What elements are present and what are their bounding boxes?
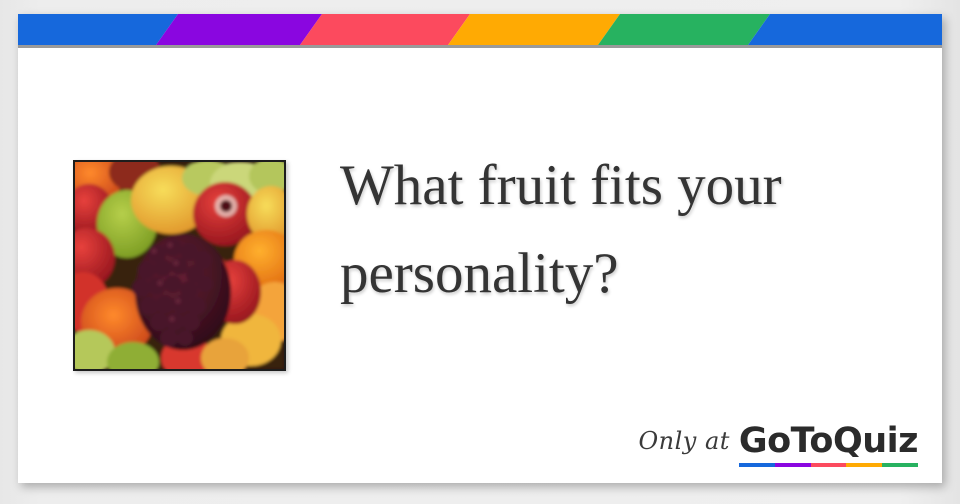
logo-bar-green [882, 463, 918, 467]
logo-tagline: Only at [638, 427, 729, 467]
screenshot-root: What fruit fits your personality? Only a… [0, 0, 960, 504]
ribbon-segment-blue [18, 14, 178, 45]
quiz-card: What fruit fits your personality? Only a… [18, 14, 942, 483]
logo-bar-purple [775, 463, 811, 467]
top-color-ribbon [18, 14, 942, 45]
logo-bar-blue [739, 463, 775, 467]
logo-bar-orange [846, 463, 882, 467]
ribbon-segment-green [598, 14, 770, 45]
logo-wordmark: GoToQuiz [739, 423, 918, 459]
ribbon-underline [18, 45, 942, 48]
ribbon-segment-blue-end [748, 14, 942, 45]
ribbon-segment-purple [156, 14, 322, 45]
quiz-thumbnail[interactable] [73, 160, 286, 371]
logo-mark: GoToQuiz [739, 423, 918, 467]
logo-bar-red [811, 463, 847, 467]
logo-color-bar [739, 463, 918, 467]
gotoquiz-logo[interactable]: Only at GoToQuiz [638, 423, 918, 467]
fruit-photo [75, 162, 284, 369]
ribbon-segment-red [300, 14, 470, 45]
quiz-title: What fruit fits your personality? [340, 142, 930, 318]
ribbon-segment-orange [448, 14, 620, 45]
